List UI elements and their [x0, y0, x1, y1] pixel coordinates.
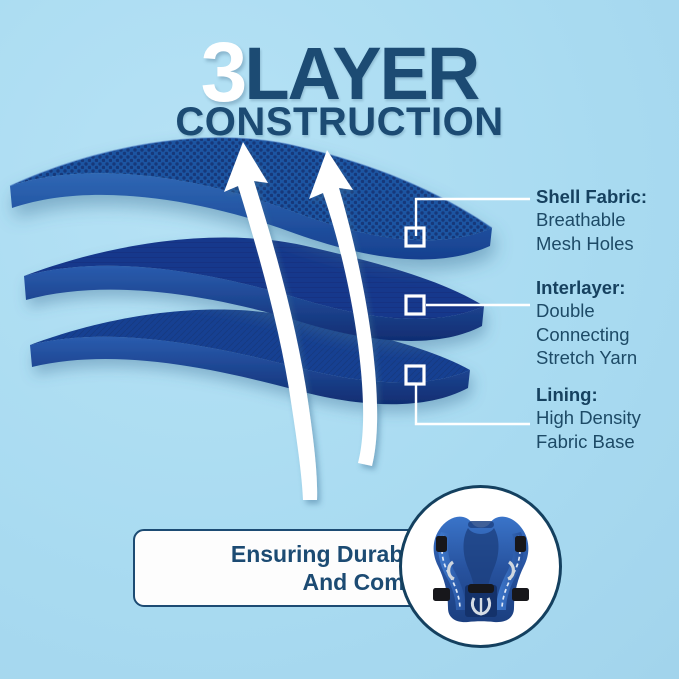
callout-lining-line2: Fabric Base: [536, 430, 641, 453]
dog-harness-photo: [406, 492, 556, 642]
callout-interlayer: Interlayer: Double Connecting Stretch Ya…: [536, 276, 637, 369]
callout-shell-line2: Mesh Holes: [536, 232, 647, 255]
callout-interlayer-line2: Connecting: [536, 323, 637, 346]
callout-shell-line1: Breathable: [536, 208, 647, 231]
connector-lining: [406, 366, 530, 424]
infographic-canvas: 3LAYER CONSTRUCTION: [0, 0, 679, 679]
callout-lining-heading: Lining:: [536, 383, 641, 406]
callout-lining-line1: High Density: [536, 406, 641, 429]
product-photo-circle: [399, 485, 562, 648]
callout-shell-heading: Shell Fabric:: [536, 185, 647, 208]
callout-interlayer-heading: Interlayer:: [536, 276, 637, 299]
callout-interlayer-line1: Double: [536, 299, 637, 322]
connector-shell: [406, 199, 530, 246]
connector-interlayer: [406, 296, 530, 314]
callout-lining: Lining: High Density Fabric Base: [536, 383, 641, 453]
callout-interlayer-line3: Stretch Yarn: [536, 346, 637, 369]
callout-shell-fabric: Shell Fabric: Breathable Mesh Holes: [536, 185, 647, 255]
